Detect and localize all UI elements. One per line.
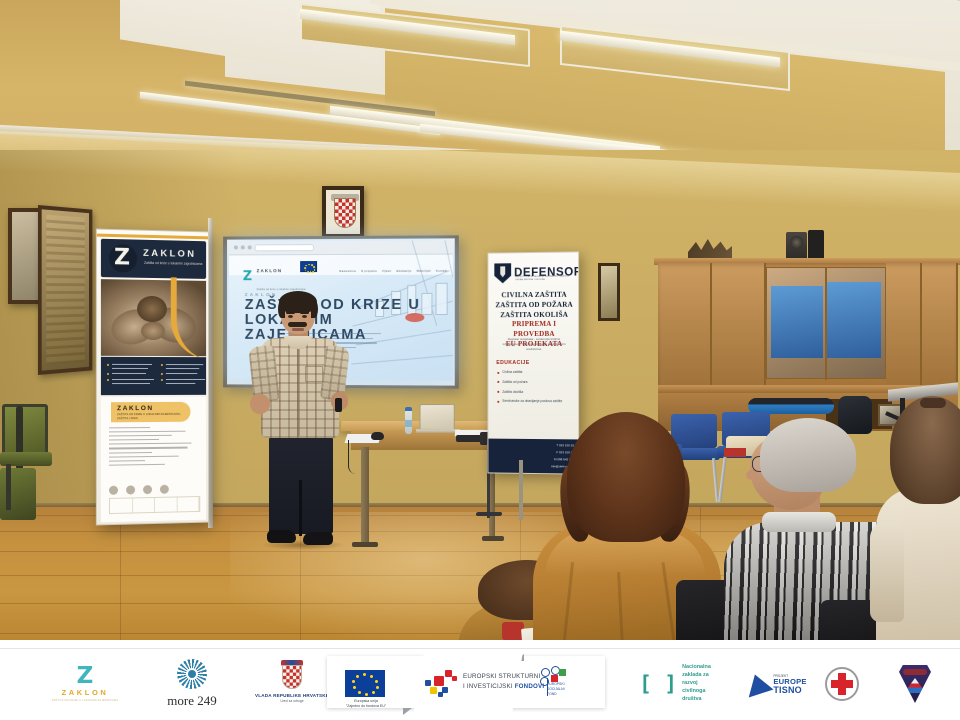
logo-more-249-name: more 249: [167, 693, 216, 709]
rollup-lower-tagline: ZAŠTITA OD KRIZE U LOKALNIM ZAJEDNICAMA,…: [117, 413, 187, 421]
esi-funds-mark-icon: [425, 668, 459, 698]
website-nav: Naslovnica O projektu Vijesti Edukacije …: [339, 269, 447, 273]
audience-2-hair: [760, 418, 856, 492]
compass-rose-icon: [177, 659, 207, 689]
zaklon-rollup-banner: Z ZAKLON Zaštita od krize u lokalnim zaj…: [96, 229, 209, 526]
rollup-bullets-block: [101, 357, 206, 395]
logo-europe-line3: TISNO: [773, 686, 806, 695]
esf-line-3: FOND: [547, 692, 565, 697]
croatian-crest-icon-footer: [282, 665, 302, 689]
water-bottle-cap: [405, 407, 412, 411]
audience-3-arm: [870, 522, 904, 622]
logo-civilna-zastita: [882, 648, 948, 720]
photo-scene: Z ZAKLON Zaštita od krize u lokalnim zaj…: [0, 0, 960, 648]
brackets-icon: [ ]: [639, 674, 677, 694]
laptop-screen: [420, 404, 455, 430]
browser-url-bar: [255, 244, 314, 251]
logo-vlada-name: VLADA REPUBLIKE HRVATSKE: [255, 693, 329, 698]
speaker-right: [808, 230, 824, 260]
defensor-title-0: CIVILNA ZAŠTITA: [492, 291, 576, 301]
audience-1-hair: [567, 412, 685, 542]
logo-zaklon-name: ZAKLON: [62, 688, 109, 697]
framed-picture-right: [598, 263, 620, 321]
rollup-lower-pill: ZAKLON ZAŠTITA OD KRIZE U LOKALNIM ZAJED…: [111, 402, 190, 422]
esi-bold-1: EUROPSKI: [463, 673, 497, 680]
logo-nz-line-1: zaklada za: [682, 672, 711, 680]
nav-item-0: Naslovnica: [339, 269, 356, 273]
defensor-edu-item-2: Zaštita okoliša: [497, 389, 573, 394]
desk-leg-left: [361, 447, 369, 545]
sponsor-logo-bar: Z ZAKLON ZAŠTITA OD KRIZE U LOKALNIM ZAJ…: [0, 648, 960, 720]
nav-item-3: Edukacije: [397, 269, 412, 273]
logo-more-249: more 249: [150, 648, 234, 720]
presenter-shoe-left: [267, 530, 296, 543]
cabinet-poster-2: [827, 282, 881, 358]
hair-clip-icon: [920, 398, 946, 408]
cabinet-glass-doors: [766, 267, 886, 379]
presenter-shoe-right: [303, 532, 333, 545]
presenter-moustache: [288, 322, 307, 327]
star-icon: [743, 670, 774, 697]
defensor-paragraph: Registar subjekata - evidencija kritične…: [498, 337, 570, 352]
logo-hrvatski-crveni-kriz: [806, 648, 878, 720]
civil-protection-shield-icon: [899, 665, 931, 703]
audience-woman-cream-top: [876, 396, 960, 648]
esi-rest-2: I INVESTICIJSKI: [463, 683, 515, 690]
speaker-left: [786, 232, 807, 260]
eu-flag-icon-projected: [300, 261, 317, 272]
logo-nacionalna-zaklada: [ ] Nacionalna zaklada za razvoj civilno…: [620, 648, 730, 720]
defensor-subtitle: DRUŠTVO ZA PROMICANJE SIGURNOSTI I ZAŠTI…: [515, 276, 577, 283]
eu-caption-line2: "Zajedno do fondova EU": [333, 704, 399, 709]
logo-vlada-tagline: Ured za udruge: [280, 699, 303, 703]
presentation-remote: [335, 398, 342, 412]
rollup-tagline: Zaštita od krize u lokalnim zajednicama: [144, 261, 205, 267]
desk-foot-left: [352, 542, 378, 547]
defensor-edu-item-3: Seminarske za obavljanje poslova zaštite: [497, 399, 573, 404]
presenter-shirt-placket: [297, 344, 300, 436]
audience-3-hair: [890, 396, 960, 504]
eu-caption: Europska unija "Zajedno do fondova EU": [333, 699, 399, 710]
defensor-title-2: ZAŠTITA OKOLIŠA: [492, 310, 576, 320]
presenter-trouser-seam: [299, 480, 302, 536]
green-chair-leg: [6, 464, 11, 510]
audience-2-collar: [762, 512, 836, 532]
defensor-banner-pole: [519, 460, 523, 520]
presenter-person: [247, 294, 355, 556]
esf-caption: EUROPSKI SOCIJALNI FOND: [547, 682, 565, 697]
nav-item-4: Materijali: [417, 269, 431, 273]
shield-icon: [494, 263, 511, 283]
croatian-crest-icon: [334, 198, 356, 228]
croatian-coat-of-arms-frame: [322, 186, 364, 238]
logo-nz-line-2: razvoj: [682, 680, 711, 688]
defensor-edu-item-1: Zaštita od požara: [497, 380, 573, 384]
browser-chrome: [229, 240, 453, 255]
framed-picture-left-2: [38, 205, 92, 375]
rollup-brand-name: ZAKLON: [143, 248, 196, 260]
rollup-logo-strip: [109, 496, 200, 514]
speaker-cone-icon: [790, 236, 803, 249]
logo-nz-line-3: civilnoga: [682, 688, 711, 696]
esi-rest-1: STRUKTURNI: [497, 673, 541, 680]
laptop-keyboard: [416, 429, 460, 432]
defensor-edukacije-heading: EDUKACIJE: [496, 360, 529, 366]
logo-vlada-rh: VLADA REPUBLIKE HRVATSKE Ured za udruge: [244, 648, 340, 720]
rollup-z-icon: Z: [114, 245, 130, 271]
presenter-mouth: [292, 328, 304, 331]
green-chair-back: [2, 404, 48, 456]
logo-nz-name: Nacionalna zaklada za razvoj civilnoga d…: [682, 664, 711, 703]
eu-flag-icon: [345, 670, 385, 697]
nav-item-2: Vijesti: [382, 269, 392, 273]
logo-zaklon: Z ZAKLON ZAŠTITA OD KRIZE U LOKALNIM ZAJ…: [44, 648, 126, 720]
rollup-lower-panel: ZAKLON ZAŠTITA OD KRIZE U LOKALNIM ZAJED…: [101, 397, 206, 523]
nav-item-1: O projektu: [361, 269, 377, 273]
esi-text-line2: I INVESTICIJSKI FONDOVI: [463, 683, 544, 690]
water-bottle-label: [405, 420, 412, 427]
logo-zaklon-tagline: ZAŠTITA OD KRIZE U LOKALNIM ZAJEDNICAMA: [52, 699, 119, 703]
rollup-header: Z ZAKLON Zaštita od krize u lokalnim zaj…: [101, 239, 206, 279]
desk-foot-right: [482, 536, 504, 541]
camera-tripod-base: [476, 512, 503, 516]
zaklon-z-icon: Z: [243, 271, 254, 283]
computer-mouse: [371, 432, 384, 440]
zaklon-z-icon-footer: Z: [77, 666, 94, 686]
defensor-title-1: ZAŠTITA OD POŽARA: [492, 300, 576, 310]
defensor-edukacije-list: Civilna zaštita Zaštita od požara Zaštit…: [497, 370, 573, 409]
presenter-shirt-pocket: [305, 366, 323, 382]
logo-eu-structural-funds: Europska unija "Zajedno do fondova EU" E…: [327, 652, 605, 716]
cabinet-poster-1: [771, 286, 823, 358]
rollup-partner-logos: [109, 484, 200, 495]
logo-nz-line-0: Nacionalna: [682, 664, 711, 672]
rollup-body-text: [109, 427, 198, 469]
defensor-edu-item-0: Civilna zaštita: [497, 370, 573, 374]
red-cross-icon: [825, 667, 859, 701]
zaklon-logo-word: ZAKLON: [257, 268, 283, 273]
esi-text-line1: EUROPSKI STRUKTURNI: [463, 673, 540, 680]
zaklon-logo-projected: Z ZAKLON Zaštita od krize u lokalnim zaj…: [243, 259, 306, 295]
logo-nz-line-4: društva: [682, 696, 711, 704]
